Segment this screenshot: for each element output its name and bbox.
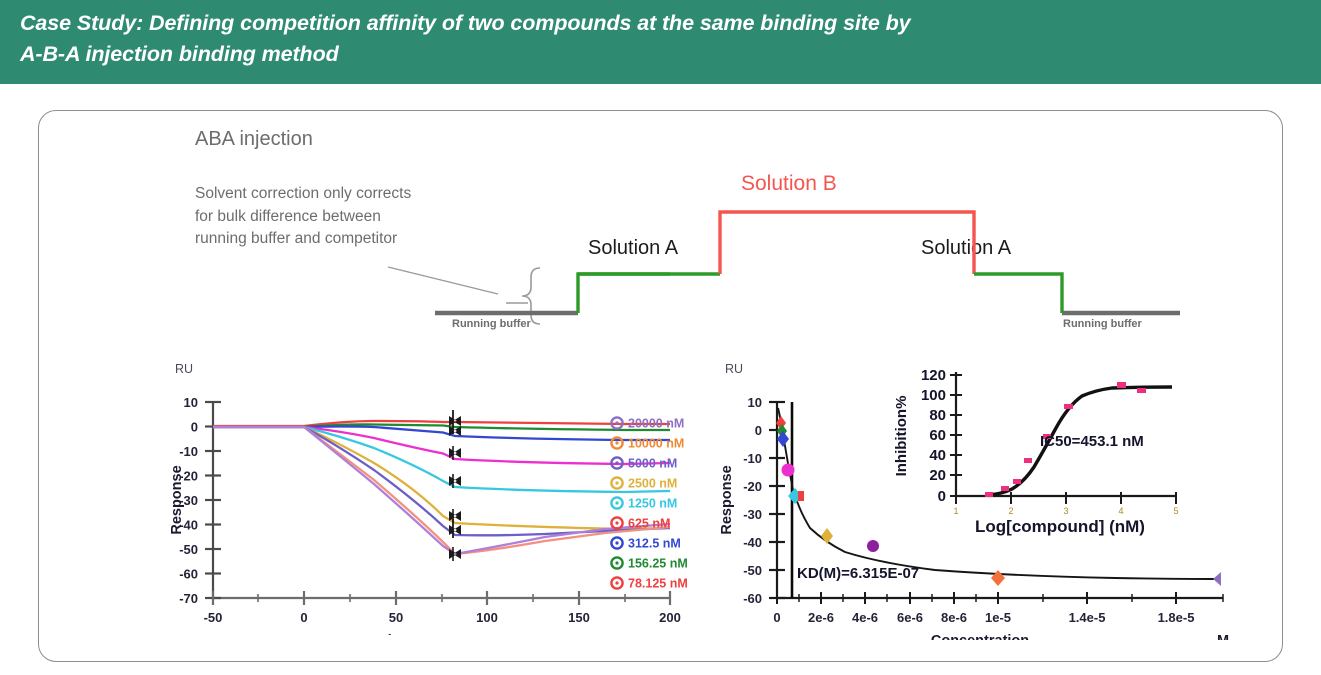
legend-item[interactable]: 20000 nM [611,417,684,431]
data-point-2500 [821,528,833,544]
inset-ytick-40: 40 [929,447,946,464]
sensorgram-x-unit: s [666,633,674,635]
inset-xtick-1: 1 [953,506,958,516]
ic50-point [1001,486,1009,491]
legend-item[interactable]: 156.25 nM [611,557,687,571]
affinity-xtick-2e-6: 2e-6 [808,610,834,625]
inset-y-axis-label: Inhibition% [893,396,910,477]
slide-title-line-1: Case Study: Defining competition affinit… [20,8,1301,39]
sensorgram-xtick-200: 200 [659,610,681,625]
affinity-ytick-10: 10 [748,395,762,410]
sensorgram-ytick-m70: -70 [179,591,198,606]
affinity-x-unit: M [1217,633,1229,640]
ic50-inset-chart: 120 100 80 60 40 20 0 1 2 3 4 5 Inhibiti… [884,368,1194,538]
inset-xtick-3: 3 [1063,506,1068,516]
sensorgram-xtick-100: 100 [476,610,498,625]
affinity-xtick-0: 0 [773,610,780,625]
legend-label-156-25: 156.25 nM [628,557,688,571]
curve-2500 [213,427,670,529]
sensorgram-xtick-m50: -50 [204,610,223,625]
ic50-annotation: IC50=453.1 nM [1040,433,1144,450]
kd-annotation: KD(M)=6.315E-07 [797,565,919,582]
inset-ytick-60: 60 [929,427,946,444]
affinity-ytick-m20: -20 [743,479,762,494]
sensorgram-ytick-10: 10 [184,395,198,410]
aba-injection-title: ABA injection [195,128,313,151]
inset-ytick-100: 100 [921,387,946,404]
sensorgram-ytick-0: 0 [191,420,198,435]
leader-line [388,267,498,294]
data-point-1250b [798,491,804,501]
curve-1250 [213,427,670,492]
legend-item[interactable]: 10000 nM [611,437,684,451]
sensorgram-y-unit: RU [175,362,193,376]
affinity-xtick-4e-6: 4e-6 [852,610,878,625]
curve-312-5 [213,427,670,441]
data-point-20000 [1213,572,1221,586]
ic50-point [1117,382,1126,388]
sensorgram-xtick-50: 50 [389,610,403,625]
legend-item[interactable]: 2500 nM [611,477,677,491]
ic50-point [1013,479,1021,484]
ic50-point [1024,458,1032,463]
legend-label-1250: 1250 nM [628,497,677,511]
step-solution-b [720,212,974,274]
legend-label-5000: 5000 nM [628,457,677,471]
affinity-x-axis-label: Concentration [931,633,1029,640]
sensorgram-xtick-150: 150 [568,610,590,625]
injection-step-diagram [380,190,1180,325]
legend-label-312-5: 312.5 nM [628,537,681,551]
ic50-point [985,492,993,497]
ic50-point [1137,388,1146,393]
inset-ytick-80: 80 [929,407,946,424]
legend-item[interactable]: 312.5 nM [611,537,680,551]
inset-ytick-120: 120 [921,368,946,384]
sensorgram-xtick-0: 0 [300,610,307,625]
legend-label-78-125: 78.125 nM [628,577,688,591]
affinity-ytick-0: 0 [755,423,762,438]
step-solution-a-second [974,274,1062,313]
legend-label-10000: 10000 nM [628,437,684,451]
slide-header: Case Study: Defining competition affinit… [0,0,1321,84]
affinity-ytick-m10: -10 [743,451,762,466]
data-point-625 [782,464,795,477]
sensorgram-x-axis-label: Time [379,633,413,635]
affinity-xtick-8e-6: 8e-6 [941,610,967,625]
affinity-xtick-1-8e-5: 1.8e-5 [1158,610,1195,625]
data-point-10000 [991,570,1005,586]
inset-xtick-4: 4 [1118,506,1123,516]
affinity-y-unit: RU [725,362,743,376]
inset-xtick-5: 5 [1173,506,1178,516]
inset-ytick-0: 0 [938,488,946,505]
step-solution-a-first [578,274,670,313]
affinity-ytick-m40: -40 [743,535,762,550]
data-point-5000 [867,540,879,552]
inset-x-axis-label: Log[compound] (nM) [975,517,1145,536]
sensorgram-ytick-m50: -50 [179,542,198,557]
legend-label-20000: 20000 nM [628,417,684,431]
legend-item[interactable]: 5000 nM [611,457,677,471]
inset-xtick-2: 2 [1008,506,1013,516]
ic50-point [1064,404,1073,409]
affinity-y-axis-label: Response [719,465,735,534]
affinity-xtick-1e-5: 1e-5 [985,610,1011,625]
brace-icon [522,268,540,324]
curve-10000 [213,427,670,554]
affinity-xtick-1-4e-5: 1.4e-5 [1069,610,1106,625]
sensorgram-legend: 20000 nM 10000 nM 5000 nM 2500 nM 1250 n… [608,414,713,592]
inset-ytick-20: 20 [929,467,946,484]
legend-item[interactable]: 625 nM [611,517,670,531]
affinity-xtick-6e-6: 6e-6 [897,610,923,625]
sensorgram-ytick-m10: -10 [179,444,198,459]
affinity-ytick-m60: -60 [743,591,762,606]
sensorgram-ytick-m60: -60 [179,567,198,582]
legend-item[interactable]: 78.125 nM [611,577,687,591]
sensorgram-curves [213,421,670,554]
curve-20000 [213,427,670,554]
sensorgram-y-axis-label: Response [169,465,185,534]
affinity-ytick-m30: -30 [743,507,762,522]
affinity-ytick-m50: -50 [743,563,762,578]
legend-label-625: 625 nM [628,517,670,531]
slide-title-line-2: A-B-A injection binding method [20,39,1301,70]
legend-item[interactable]: 1250 nM [611,497,677,511]
legend-label-2500: 2500 nM [628,477,677,491]
